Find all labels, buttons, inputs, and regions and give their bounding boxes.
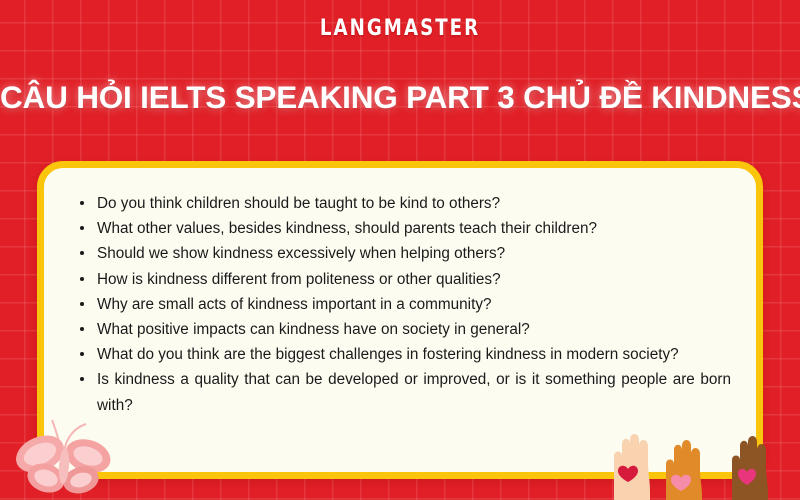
list-item: How is kindness different from politenes…: [80, 267, 731, 292]
list-item: Should we show kindness excessively when…: [80, 241, 731, 266]
question-text: What other values, besides kindness, sho…: [97, 220, 597, 237]
bullet-icon: [80, 226, 84, 230]
bullet-icon: [80, 302, 84, 306]
question-text: Should we show kindness excessively when…: [97, 245, 505, 262]
bullet-icon: [80, 277, 84, 281]
page-title: CÂU HỎI IELTS SPEAKING PART 3 CHỦ ĐỀ KIN…: [0, 78, 800, 116]
list-item: Why are small acts of kindness important…: [80, 292, 731, 317]
question-text: What positive impacts can kindness have …: [97, 321, 530, 338]
question-text: How is kindness different from politenes…: [97, 271, 501, 288]
bullet-icon: [80, 201, 84, 205]
brand-logo: LANGMASTER: [32, 16, 768, 41]
bullet-icon: [80, 251, 84, 255]
list-item: What positive impacts can kindness have …: [80, 317, 731, 342]
list-item: Is kindness a quality that can be develo…: [80, 367, 731, 417]
questions-card: Do you think children should be taught t…: [37, 161, 763, 479]
questions-list: Do you think children should be taught t…: [44, 168, 756, 418]
question-text: Why are small acts of kindness important…: [97, 296, 491, 313]
slide-canvas: LANGMASTER CÂU HỎI IELTS SPEAKING PART 3…: [0, 0, 800, 500]
bullet-icon: [80, 377, 84, 381]
bullet-icon: [80, 352, 84, 356]
bullet-icon: [80, 327, 84, 331]
list-item: Do you think children should be taught t…: [80, 191, 731, 216]
question-text: Do you think children should be taught t…: [97, 195, 500, 212]
list-item: What do you think are the biggest challe…: [80, 342, 731, 367]
question-text: Is kindness a quality that can be develo…: [97, 371, 731, 413]
question-text: What do you think are the biggest challe…: [97, 346, 679, 363]
list-item: What other values, besides kindness, sho…: [80, 216, 731, 241]
